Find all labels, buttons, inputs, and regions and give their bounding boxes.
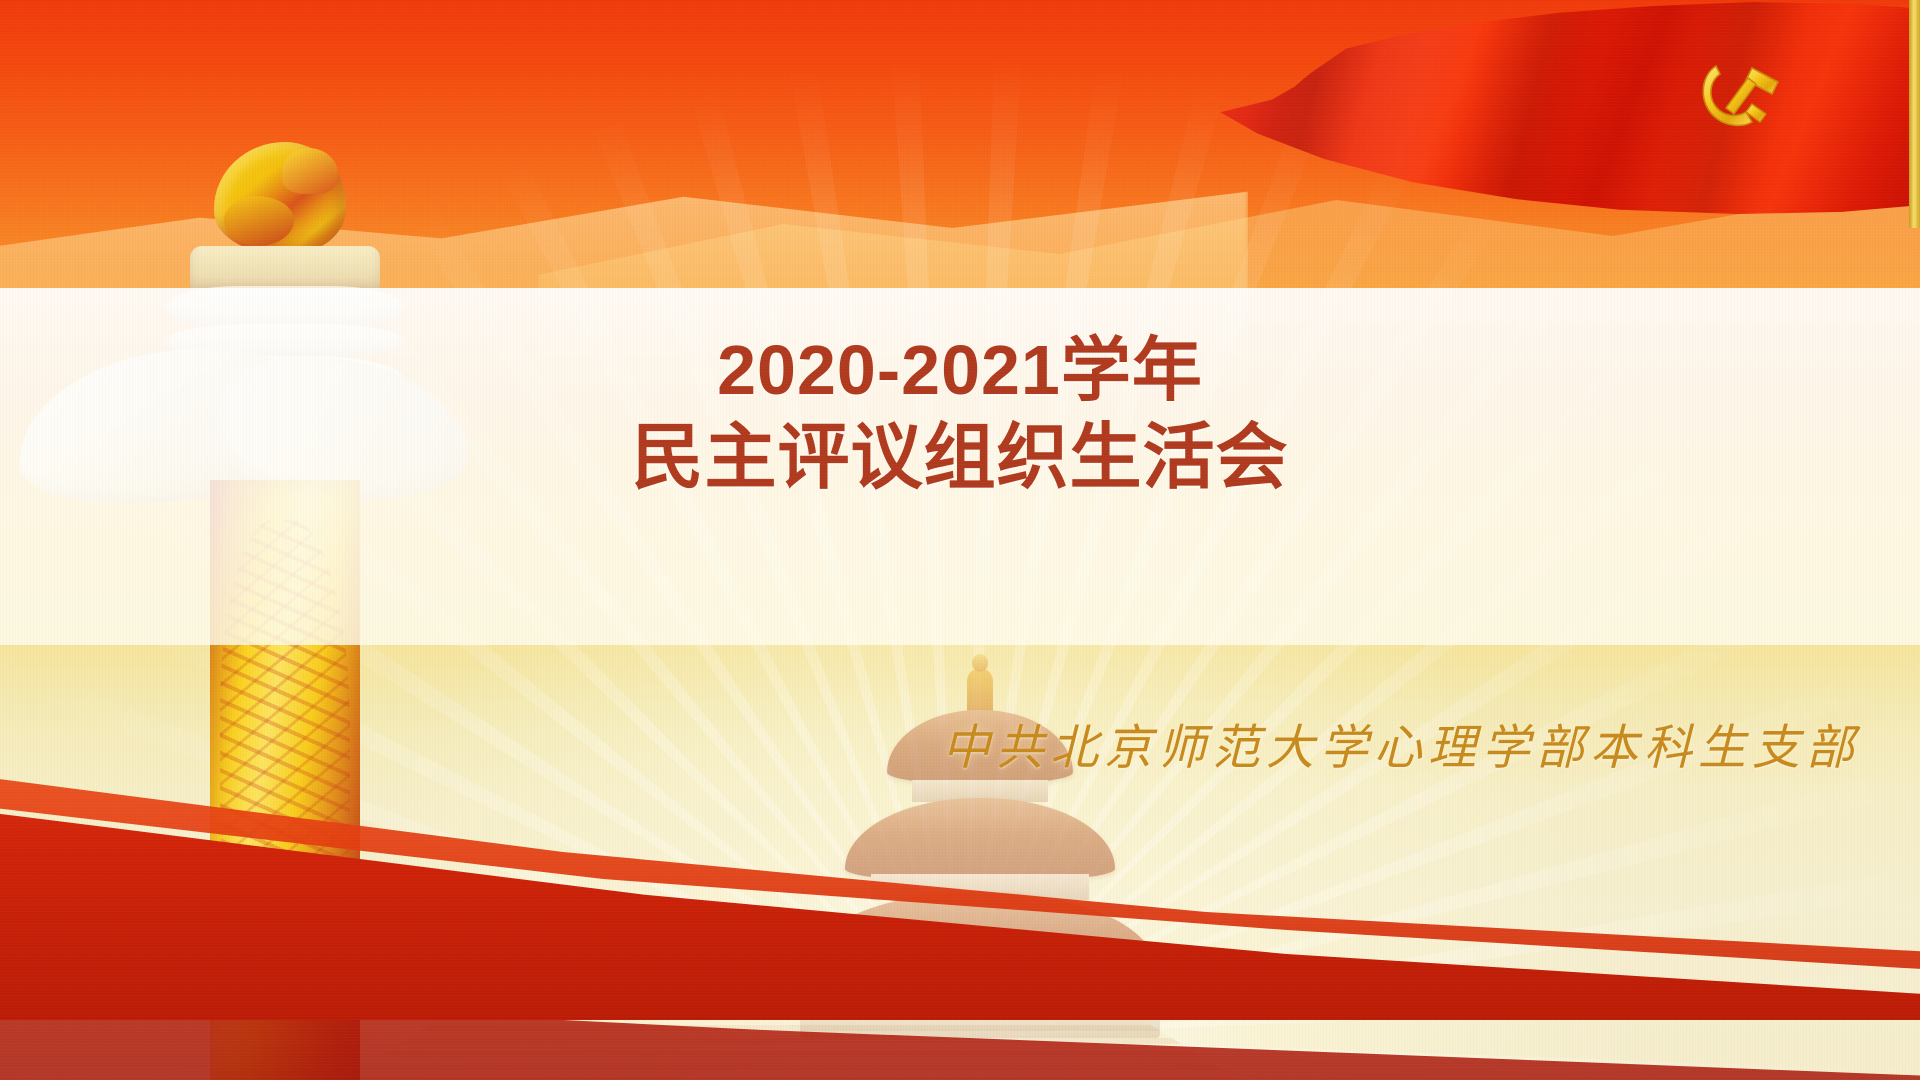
title-line-1: 2020-2021学年 [717,330,1203,411]
cpc-flag [1160,0,1920,230]
presentation-slide: 2020-2021学年 民主评议组织生活会 中共北京师范大学心理学部本科生支部 [0,0,1920,1080]
title-line-2: 民主评议组织生活会 [631,417,1288,501]
huabiao-cap [190,246,380,290]
title-block: 2020-2021学年 民主评议组织生活会 [0,330,1920,501]
hammer-and-sickle-emblem [1696,52,1792,138]
mythical-beast-statue [214,142,346,254]
organization-subtitle: 中共北京师范大学心理学部本科生支部 [942,708,1860,778]
flag-folds [1176,2,1916,214]
flag-pole [1909,0,1920,228]
